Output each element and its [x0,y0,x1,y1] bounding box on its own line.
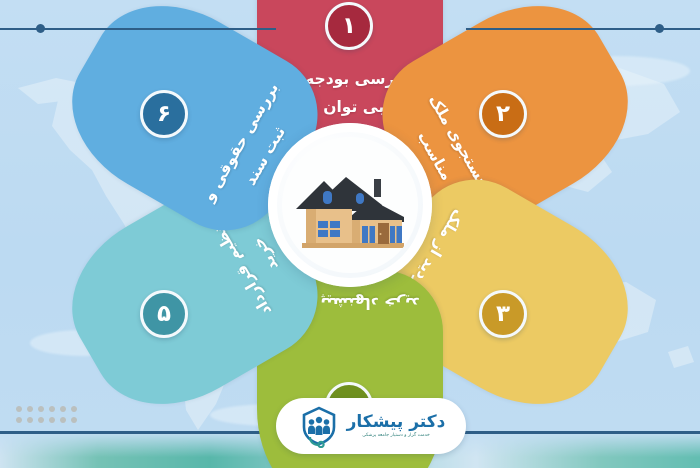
step-badge-1[interactable]: ۱ [325,2,373,50]
step-number: ۱ [342,13,356,39]
logo-dot-right [655,24,664,33]
brand-tagline: خدمت گزار و دستیار جامعه پزشکی [362,434,430,439]
step-number: ۵ [157,301,171,327]
brand-title: دکتر پیشکار [347,414,446,431]
infographic-canvas: بررسی بودجه و ارزیابی توان مالی جستجوی م… [0,0,700,468]
step-number: ۲ [496,101,510,127]
step-badge-2[interactable]: ۲ [479,90,527,138]
step-badge-5[interactable]: ۵ [140,290,188,338]
shield-people-stethoscope-icon [297,404,341,448]
decorative-dot-grid [16,406,77,423]
step-number: ۶ [157,101,171,127]
center-circle[interactable] [282,137,418,273]
logo-rule-right [466,28,700,30]
step-number: ۳ [496,301,510,327]
brand-text-group: دکتر پیشکار خدمت گزار و دستیار جامعه پزش… [347,414,446,439]
step-badge-6[interactable]: ۶ [140,90,188,138]
logo-dot-left [36,24,45,33]
brand-logo[interactable]: دکتر پیشکار خدمت گزار و دستیار جامعه پزش… [276,398,466,454]
step-badge-3[interactable]: ۳ [479,290,527,338]
house-icon [290,159,410,251]
